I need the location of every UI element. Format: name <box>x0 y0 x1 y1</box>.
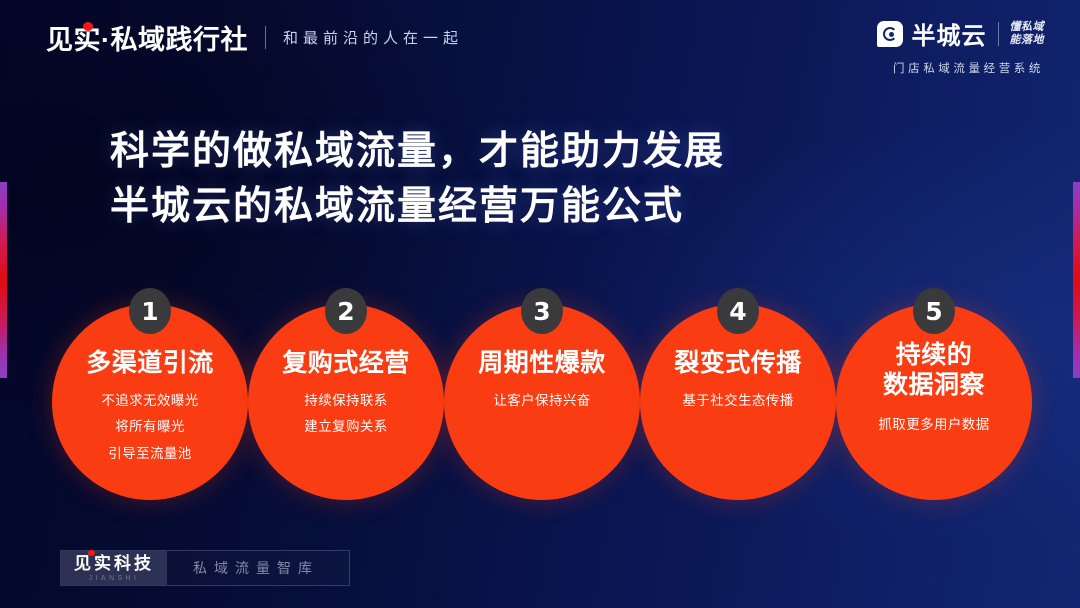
brand-right: 半城云 懂私域 能落地 门店私域流量经营系统 <box>877 16 1045 76</box>
footer-logo: 见实科技 JIANSHI <box>61 551 167 585</box>
footer-red-dot-icon <box>88 550 95 556</box>
node-detail-line: 让客户保持兴奋 <box>493 388 590 414</box>
footer-bar: 见实科技 JIANSHI 私域流量智库 <box>60 550 350 586</box>
brand-right-row: 半城云 懂私域 能落地 <box>877 16 1045 51</box>
formula-node-row: 1 多渠道引流 不追求无效曝光 将所有曝光 引导至流量池 2 复购式经营 持续保… <box>0 288 1080 500</box>
node-number-badge: 4 <box>717 288 759 334</box>
brand-right-divider <box>998 22 999 46</box>
node-detail-line: 引导至流量池 <box>101 441 198 467</box>
formula-node-3[interactable]: 3 周期性爆款 让客户保持兴奋 <box>444 288 640 484</box>
formula-node-5[interactable]: 5 持续的 数据洞察 抓取更多用户数据 <box>836 288 1032 484</box>
node-detail-lines: 持续保持联系 建立复购关系 <box>304 388 387 441</box>
node-detail-line: 基于社交生态传播 <box>682 388 793 414</box>
page-title: 科学的做私域流量，才能助力发展 半城云的私域流量经营万能公式 <box>110 124 725 235</box>
node-title: 周期性爆款 <box>478 348 606 378</box>
bancheng-cloud-mark-icon <box>877 21 903 47</box>
node-number-badge: 2 <box>325 288 367 334</box>
node-detail-line: 持续保持联系 <box>304 388 387 414</box>
formula-node-2[interactable]: 2 复购式经营 持续保持联系 建立复购关系 <box>248 288 444 484</box>
node-detail-line: 不追求无效曝光 <box>101 388 198 414</box>
brand-right-name: 半城云 <box>912 16 987 51</box>
footer-tagline: 私域流量智库 <box>167 551 349 585</box>
brand-right-slogan: 懂私域 能落地 <box>1010 21 1045 46</box>
node-detail-lines: 基于社交生态传播 <box>682 388 793 414</box>
title-line-1: 科学的做私域流量，才能助力发展 <box>110 124 725 179</box>
node-title: 持续的 <box>896 340 973 370</box>
node-title: 多渠道引流 <box>86 348 214 378</box>
brand-right-slogan-line2: 能落地 <box>1010 34 1045 46</box>
node-detail-line: 将所有曝光 <box>101 414 198 440</box>
node-detail-lines: 抓取更多用户数据 <box>878 412 989 438</box>
node-detail-line: 抓取更多用户数据 <box>878 412 989 438</box>
node-number-badge: 3 <box>521 288 563 334</box>
node-detail-lines: 不追求无效曝光 将所有曝光 引导至流量池 <box>101 388 198 467</box>
slide-header: 见实·私域践行社 和最前沿的人在一起 半城云 懂私域 能落地 门店私域流量经营系… <box>0 0 1080 84</box>
brand-right-subtitle: 门店私域流量经营系统 <box>877 60 1045 76</box>
node-title: 复购式经营 <box>282 348 410 378</box>
brand-right-slogan-line1: 懂私域 <box>1010 21 1045 33</box>
brand-left: 见实·私域践行社 和最前沿的人在一起 <box>46 18 463 57</box>
header-divider <box>265 26 266 49</box>
node-title: 数据洞察 <box>883 370 985 400</box>
formula-node-4[interactable]: 4 裂变式传播 基于社交生态传播 <box>640 288 836 484</box>
brand-left-tagline: 和最前沿的人在一起 <box>283 27 463 48</box>
footer-logo-name: 见实科技 <box>74 555 154 572</box>
presentation-slide: 见实·私域践行社 和最前沿的人在一起 半城云 懂私域 能落地 门店私域流量经营系… <box>0 0 1080 608</box>
node-detail-line: 建立复购关系 <box>304 414 387 440</box>
node-title: 裂变式传播 <box>674 348 802 378</box>
brand-left-name: 见实·私域践行社 <box>46 18 248 57</box>
node-number-badge: 1 <box>129 288 171 334</box>
node-number-badge: 5 <box>913 288 955 334</box>
brand-red-dot-icon <box>83 22 93 31</box>
footer-logo-subtitle: JIANSHI <box>89 575 140 582</box>
title-line-2: 半城云的私域流量经营万能公式 <box>110 179 725 234</box>
formula-node-1[interactable]: 1 多渠道引流 不追求无效曝光 将所有曝光 引导至流量池 <box>52 288 248 484</box>
node-detail-lines: 让客户保持兴奋 <box>493 388 590 414</box>
